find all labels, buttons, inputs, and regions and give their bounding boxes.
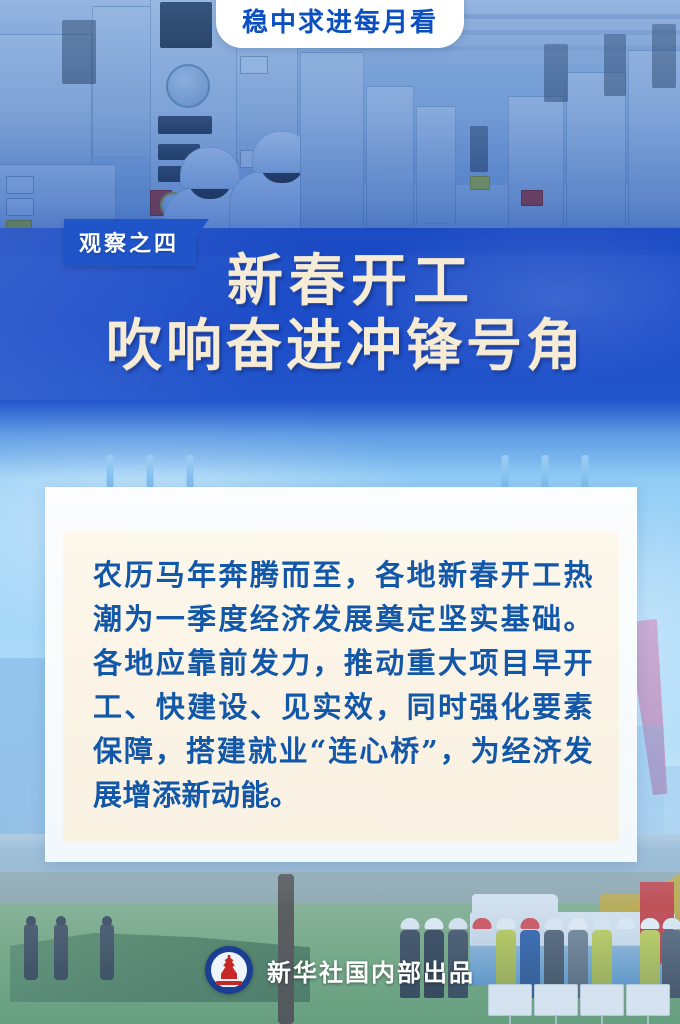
series-badge: 稳中求进每月看 [216, 0, 464, 48]
summary-text: 农历马年奔腾而至，各地新春开工热潮为一季度经济发展奠定坚实基础。各地应靠前发力，… [93, 553, 593, 817]
page-title: 新春开工 吹响奋进冲锋号角 [0, 252, 680, 377]
summary-card-inner: 农历马年奔腾而至，各地新春开工热潮为一季度经济发展奠定坚实基础。各地应靠前发力，… [63, 531, 619, 841]
footer: 新华社国内部出品 [0, 942, 680, 998]
footer-label: 新华社国内部出品 [267, 953, 475, 988]
title-line-1: 新春开工 [0, 252, 680, 311]
series-badge-label: 稳中求进每月看 [242, 2, 438, 48]
poster-root: 观察之四 新春开工 吹响奋进冲锋号角 农历马年奔腾而至，各地新春开工热潮为一季度… [0, 0, 680, 1024]
summary-card: 农历马年奔腾而至，各地新春开工热潮为一季度经济发展奠定坚实基础。各地应靠前发力，… [45, 487, 637, 862]
xinhua-logo-icon [205, 946, 253, 994]
title-line-2: 吹响奋进冲锋号角 [0, 317, 680, 376]
